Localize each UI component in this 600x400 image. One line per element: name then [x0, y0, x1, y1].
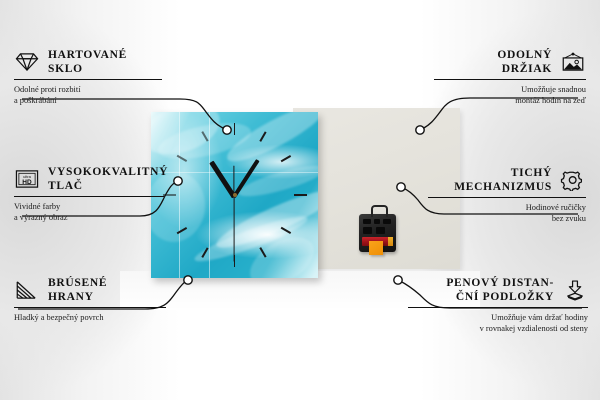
foam-spacer-pad — [369, 241, 383, 255]
feature-title: HARTOVANÉ SKLO — [48, 48, 127, 76]
feature-title: BRÚSENÉ HRANY — [48, 276, 107, 304]
foam-spacer-icon — [562, 279, 588, 301]
picture-hanger-icon — [560, 51, 586, 73]
tick-9 — [163, 194, 176, 196]
feature-desc: Umožňuje snadnou montáž hodin na zeď — [434, 84, 586, 106]
mechanism-hanger — [371, 205, 388, 217]
feature-title: TICHÝ MECHANIZMUS — [454, 166, 552, 194]
feature-desc: Umožňuje vám držať hodiny v rovnakej vzd… — [408, 312, 588, 334]
feature-desc: Hodinové ručičky bez zvuku — [428, 202, 586, 224]
tick-2 — [281, 155, 291, 162]
feature-high-quality-print: ultra HD VYSOKOKVALITNÝ TLAČ Vividné far… — [14, 165, 164, 223]
feature-silent-mechanism: TICHÝ MECHANIZMUS Hodinové ručičky bez z… — [428, 166, 586, 224]
feature-title: PENOVÝ DISTAN- ČNÍ PODLOŽKY — [446, 276, 554, 304]
feature-title: VYSOKOKVALITNÝ TLAČ — [48, 165, 168, 193]
feature-desc: Vividné farby a výrazný obraz — [14, 201, 164, 223]
svg-text:HD: HD — [22, 179, 32, 186]
feature-desc: Hladký a bezpečný povrch — [14, 312, 166, 323]
hour-hand — [209, 161, 236, 199]
feature-desc: Odolné proti rozbití a poškrábání — [14, 84, 162, 106]
ground-edges-icon — [14, 279, 40, 301]
battery-terminal — [388, 237, 393, 246]
divider — [14, 196, 164, 197]
second-hand — [233, 196, 234, 262]
clock-hub — [233, 193, 237, 197]
tick-12 — [234, 123, 236, 135]
feature-durable-hanger: ODOLNÝ DRŽIAK Umožňuje snadnou montáž ho… — [434, 48, 586, 106]
feature-foam-spacers: PENOVÝ DISTAN- ČNÍ PODLOŽKY Umožňuje vám… — [408, 276, 588, 334]
feature-tempered-glass: HARTOVANÉ SKLO Odolné proti rozbití a po… — [14, 48, 162, 106]
second-hand-counterweight — [233, 166, 234, 196]
gear-icon — [560, 169, 586, 191]
diamond-icon — [14, 51, 40, 73]
tick-3 — [294, 194, 307, 196]
divider — [428, 197, 586, 198]
product-feature-infographic: HARTOVANÉ SKLO Odolné proti rozbití a po… — [0, 0, 600, 400]
divider — [14, 307, 166, 308]
divider — [408, 307, 588, 308]
ultra-hd-icon: ultra HD — [14, 168, 40, 190]
divider — [14, 79, 162, 80]
wall-clock — [151, 112, 318, 278]
divider — [434, 79, 586, 80]
feature-ground-edges: BRÚSENÉ HRANY Hladký a bezpečný povrch — [14, 276, 166, 323]
feature-title: ODOLNÝ DRŽIAK — [497, 48, 552, 76]
